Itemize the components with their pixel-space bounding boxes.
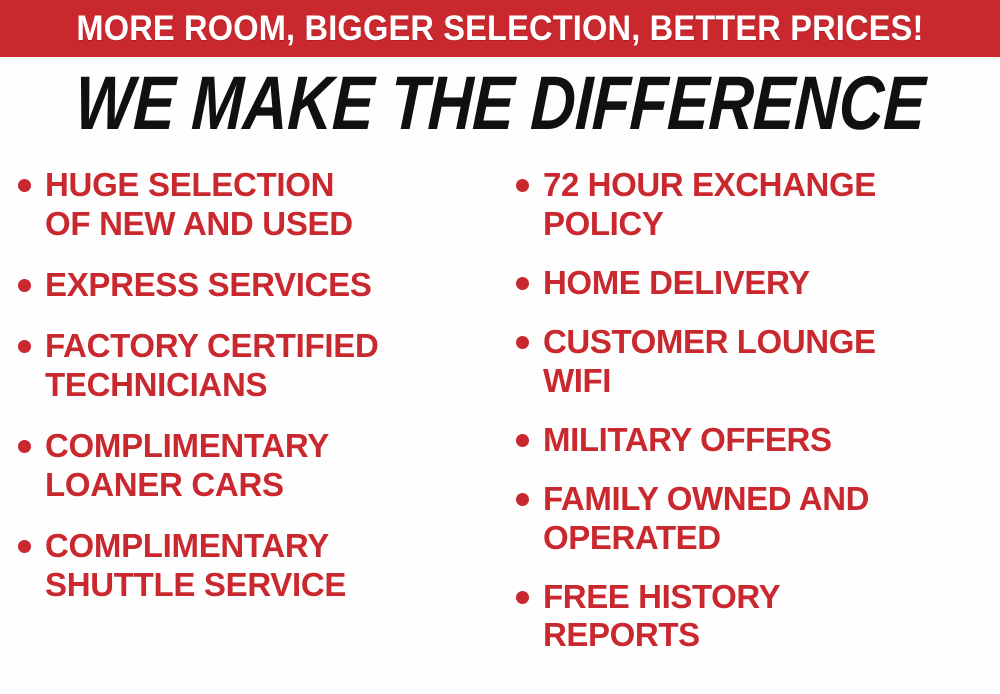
list-item-label: MILITARY OFFERS xyxy=(543,421,1000,460)
list-item: FAMILY OWNED AND OPERATED xyxy=(516,480,1000,558)
bullet-dot-icon xyxy=(516,277,529,290)
list-item: HOME DELIVERY xyxy=(516,264,1000,303)
benefits-columns: HUGE SELECTION OF NEW AND USED EXPRESS S… xyxy=(0,152,1000,694)
promo-banner: MORE ROOM, BIGGER SELECTION, BETTER PRIC… xyxy=(0,0,1000,57)
headline: WE MAKE THE DIFFERENCE xyxy=(0,64,1000,144)
list-item-label: FAMILY OWNED AND OPERATED xyxy=(543,480,1000,558)
list-item-label: HOME DELIVERY xyxy=(543,264,1000,303)
list-item-label: FREE HISTORY REPORTS xyxy=(543,578,1000,656)
bullet-dot-icon xyxy=(18,279,31,292)
list-item: 72 HOUR EXCHANGE POLICY xyxy=(516,166,1000,244)
list-item-label: 72 HOUR EXCHANGE POLICY xyxy=(543,166,1000,244)
list-item: EXPRESS SERVICES xyxy=(18,266,500,305)
bullet-dot-icon xyxy=(516,591,529,604)
bullet-dot-icon xyxy=(516,434,529,447)
headline-text: WE MAKE THE DIFFERENCE xyxy=(74,66,927,142)
list-item-label: EXPRESS SERVICES xyxy=(45,266,500,305)
benefits-column-right: 72 HOUR EXCHANGE POLICY HOME DELIVERY CU… xyxy=(500,152,1000,675)
bullet-dot-icon xyxy=(516,179,529,192)
list-item-label: COMPLIMENTARY SHUTTLE SERVICE xyxy=(45,527,500,605)
list-item-label: HUGE SELECTION OF NEW AND USED xyxy=(45,166,500,244)
list-item: HUGE SELECTION OF NEW AND USED xyxy=(18,166,500,244)
list-item: COMPLIMENTARY LOANER CARS xyxy=(18,427,500,505)
list-item: CUSTOMER LOUNGE WIFI xyxy=(516,323,1000,401)
list-item-label: COMPLIMENTARY LOANER CARS xyxy=(45,427,500,505)
promo-banner-text: MORE ROOM, BIGGER SELECTION, BETTER PRIC… xyxy=(35,0,965,57)
list-item: COMPLIMENTARY SHUTTLE SERVICE xyxy=(18,527,500,605)
list-item: FACTORY CERTIFIED TECHNICIANS xyxy=(18,327,500,405)
list-item-label: FACTORY CERTIFIED TECHNICIANS xyxy=(45,327,500,405)
list-item-label: CUSTOMER LOUNGE WIFI xyxy=(543,323,1000,401)
bullet-dot-icon xyxy=(18,179,31,192)
benefits-column-left: HUGE SELECTION OF NEW AND USED EXPRESS S… xyxy=(0,152,500,626)
list-item: FREE HISTORY REPORTS xyxy=(516,578,1000,656)
bullet-dot-icon xyxy=(18,440,31,453)
list-item: MILITARY OFFERS xyxy=(516,421,1000,460)
bullet-dot-icon xyxy=(18,340,31,353)
bullet-dot-icon xyxy=(18,540,31,553)
bullet-dot-icon xyxy=(516,336,529,349)
bullet-dot-icon xyxy=(516,493,529,506)
